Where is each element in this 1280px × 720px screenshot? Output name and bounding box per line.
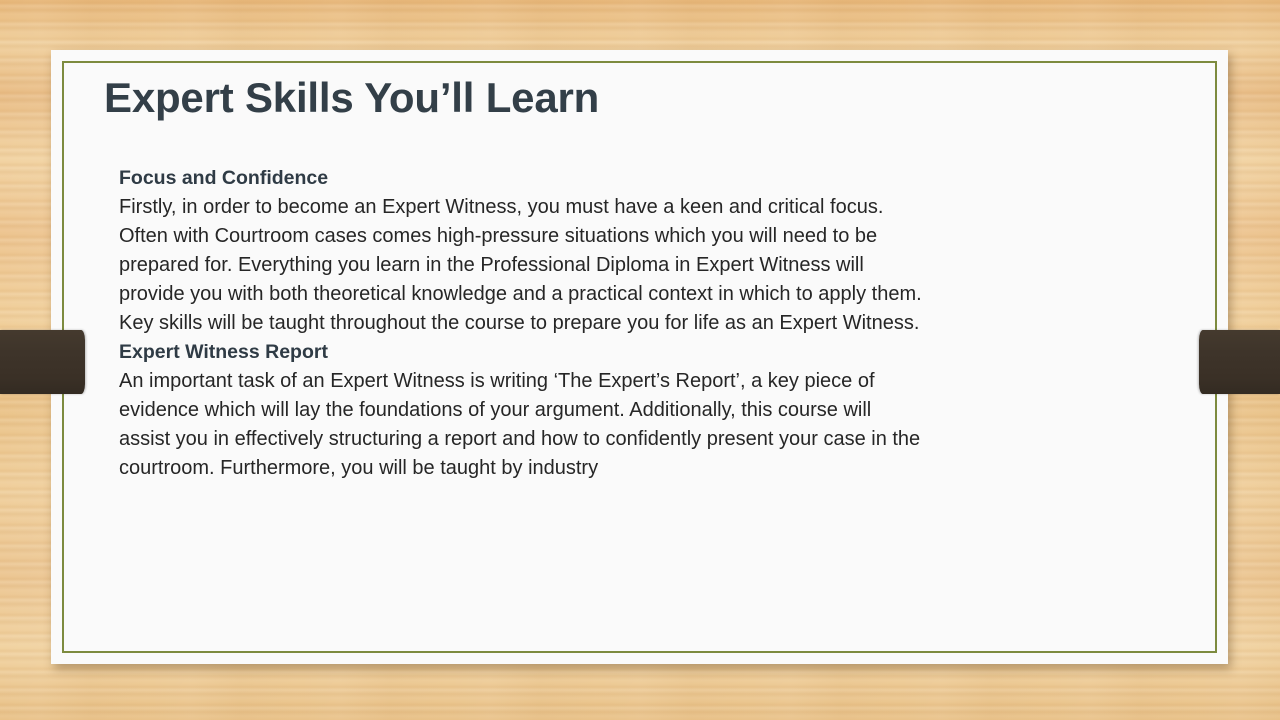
section-heading: Focus and Confidence: [119, 164, 1149, 193]
slide-content: Expert Skills You’ll Learn Focus and Con…: [51, 50, 1228, 664]
paragraph-line: Key skills will be taught throughout the…: [119, 309, 1149, 338]
page-title: Expert Skills You’ll Learn: [104, 74, 599, 122]
section-focus-and-confidence: Focus and Confidence Firstly, in order t…: [119, 164, 1149, 338]
paragraph-line: An important task of an Expert Witness i…: [119, 367, 1149, 396]
section-paragraph: An important task of an Expert Witness i…: [119, 367, 1149, 483]
paragraph-line: Firstly, in order to become an Expert Wi…: [119, 193, 1149, 222]
paragraph-line: evidence which will lay the foundations …: [119, 396, 1149, 425]
slide-canvas: Expert Skills You’ll Learn Focus and Con…: [0, 0, 1280, 720]
ribbon-bar-right: [1199, 330, 1280, 394]
section-paragraph: Firstly, in order to become an Expert Wi…: [119, 193, 1149, 338]
section-heading: Expert Witness Report: [119, 338, 1149, 367]
body-text-block: Focus and Confidence Firstly, in order t…: [119, 164, 1149, 483]
paragraph-line: provide you with both theoretical knowle…: [119, 280, 1149, 309]
paragraph-line: courtroom. Furthermore, you will be taug…: [119, 454, 1149, 483]
slide-card: Expert Skills You’ll Learn Focus and Con…: [51, 50, 1228, 664]
section-expert-witness-report: Expert Witness Report An important task …: [119, 338, 1149, 483]
paragraph-line: Often with Courtroom cases comes high-pr…: [119, 222, 1149, 251]
paragraph-line: assist you in effectively structuring a …: [119, 425, 1149, 454]
ribbon-bar-left: [0, 330, 85, 394]
paragraph-line: prepared for. Everything you learn in th…: [119, 251, 1149, 280]
